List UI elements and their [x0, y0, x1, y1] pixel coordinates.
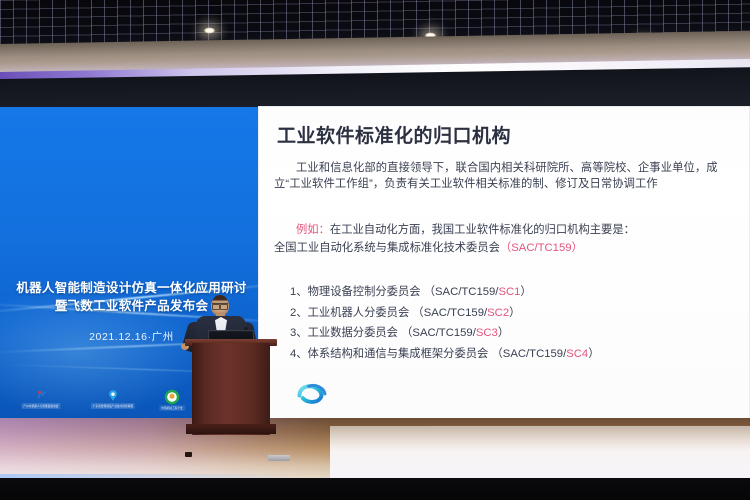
- conference-photo-scene: 机器人智能制造设计仿真一体化应用研讨 暨飞数工业软件产品发布会 2021.12.…: [0, 0, 750, 500]
- backdrop-title-line-1: 机器人智能制造设计仿真一体化应用研讨: [0, 277, 263, 296]
- stage-purple-light: [0, 418, 330, 480]
- sponsor-mark-icon: [164, 389, 180, 405]
- list-item-index: 4、: [290, 348, 308, 360]
- slide-body-paragraph: 工业和信息化部的直接领导下，联合国内相关科研院所、高等院校、企事业单位，成立“工…: [274, 161, 738, 192]
- ceiling-downlight: [203, 27, 216, 34]
- list-item-code-close: ）: [520, 286, 531, 298]
- floor-seam: [430, 426, 750, 427]
- sponsor-logo-label: 中国机械工程学会: [159, 405, 185, 411]
- list-item-code-prefix: （SAC/TC159/: [492, 348, 567, 360]
- list-item: 2、工业机器人分委员会 （SAC/TC159/SC2）: [290, 303, 600, 324]
- list-item-code-close: ）: [509, 307, 520, 319]
- podium: RISONG 瑞松科技: [192, 343, 270, 435]
- slide-title: 工业软件标准化的归口机构: [277, 121, 511, 148]
- teal-swirl-logo-icon: [296, 381, 330, 405]
- committee-list: 1、物理设备控制分委员会 （SAC/TC159/SC1） 2、工业机器人分委员会…: [290, 282, 600, 364]
- list-item: 4、体系结构和通信与集成框架分委员会 （SAC/TC159/SC4）: [290, 344, 600, 365]
- list-item-code-prefix: （SAC/TC159/: [401, 327, 476, 339]
- list-item-code-suffix: SC2: [487, 307, 509, 319]
- foreground-shadow-band: [0, 478, 750, 500]
- sponsor-mark-icon: [35, 389, 48, 402]
- list-item-name: 工业数据分委员会: [308, 327, 398, 339]
- list-item: 1、物理设备控制分委员会 （SAC/TC159/SC1）: [290, 282, 600, 303]
- floor-cable-cover: [268, 455, 290, 461]
- example-label: 例如：: [296, 224, 330, 236]
- sponsor-logo-label: 广州市机器人与智能装备协会: [21, 403, 60, 409]
- sponsor-logo: 广州市机器人与智能装备协会: [6, 389, 76, 415]
- list-item-index: 3、: [290, 327, 308, 339]
- list-item-index: 1、: [290, 286, 308, 298]
- podium-base: [186, 424, 276, 434]
- glasses-icon: [212, 303, 228, 307]
- podium-foot: [185, 452, 192, 457]
- list-item-name: 物理设备控制分委员会: [308, 286, 421, 298]
- slide-example-block: 例如：在工业自动化方面，我国工业软件标准化的归口机构主要是： 全国工业自动化系统…: [274, 222, 742, 256]
- sponsor-mark-icon: [107, 389, 120, 402]
- list-item-name: 工业机器人分委员会: [308, 307, 410, 319]
- list-item-name: 体系结构和通信与集成框架分委员会: [308, 348, 489, 360]
- list-item-code-prefix: （SAC/TC159/: [412, 307, 487, 319]
- example-committee-name: 全国工业自动化系统与集成标准化技术委员会: [274, 242, 500, 254]
- example-line-1-text: 在工业自动化方面，我国工业软件标准化的归口机构主要是：: [330, 224, 635, 236]
- list-item-code-suffix: SC1: [498, 286, 520, 298]
- list-item-index: 2、: [290, 307, 308, 319]
- sponsor-logo-label: 广东省智能制造产业技术创新联盟: [91, 403, 135, 409]
- example-committee-code: （SAC/TC159）: [500, 242, 583, 254]
- list-item: 3、工业数据分委员会 （SAC/TC159/SC3）: [290, 323, 600, 344]
- stage-floor-lit: [330, 426, 750, 480]
- presentation-slide: 工业软件标准化的归口机构 工业和信息化部的直接领导下，联合国内相关科研院所、高等…: [258, 106, 750, 421]
- sponsor-logo: 中国机械工程学会: [150, 389, 194, 415]
- floor-seam: [330, 452, 750, 453]
- list-item-code-suffix: SC3: [476, 327, 498, 339]
- sponsor-logo: 广东省智能制造产业技术创新联盟: [78, 389, 148, 415]
- list-item-code-close: ）: [588, 348, 599, 360]
- list-item-code-suffix: SC4: [566, 348, 588, 360]
- list-item-code-prefix: （SAC/TC159/: [424, 286, 499, 298]
- list-item-code-close: ）: [498, 327, 509, 339]
- example-line-1: 例如：在工业自动化方面，我国工业软件标准化的归口机构主要是：: [274, 222, 742, 239]
- example-line-2: 全国工业自动化系统与集成标准化技术委员会（SAC/TC159）: [274, 240, 742, 257]
